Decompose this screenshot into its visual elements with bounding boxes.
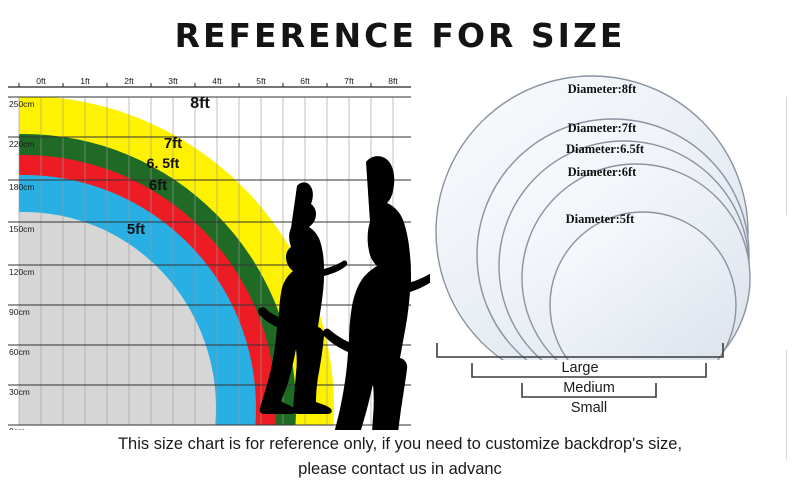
- bracket-label-large: Large: [561, 360, 598, 376]
- svg-text:1ft: 1ft: [80, 78, 90, 86]
- bracket-label-medium: Medium: [563, 380, 615, 396]
- page-title: REFERENCE FOR SIZE: [0, 16, 800, 55]
- arc-label-8ft: 8ft: [190, 95, 210, 112]
- disc-label-8ft: Diameter:8ft: [568, 82, 638, 96]
- svg-text:30cm: 30cm: [9, 387, 30, 397]
- svg-text:7ft: 7ft: [344, 78, 354, 86]
- footer-line-1: This size chart is for reference only, i…: [0, 432, 800, 457]
- svg-text:60cm: 60cm: [9, 347, 30, 357]
- svg-text:150cm: 150cm: [9, 224, 35, 234]
- adult-woman-silhouette: [323, 156, 430, 430]
- disc-label-7ft: Diameter:7ft: [568, 121, 638, 135]
- svg-text:5ft: 5ft: [256, 78, 266, 86]
- bracket-label-small: Small: [571, 400, 607, 416]
- svg-text:6ft: 6ft: [300, 78, 310, 86]
- svg-text:180cm: 180cm: [9, 182, 35, 192]
- x-axis-labels: 0ft 1ft 2ft 3ft 4ft 5ft 6ft 7ft 8ft: [36, 78, 398, 86]
- svg-text:250cm: 250cm: [9, 99, 35, 109]
- svg-text:2ft: 2ft: [124, 78, 134, 86]
- footer-line-2: please contact us in advanc: [0, 457, 800, 482]
- arc-label-7ft: 7ft: [164, 135, 182, 152]
- svg-text:90cm: 90cm: [9, 307, 30, 317]
- arc-label-5ft: 5ft: [127, 221, 145, 238]
- svg-text:120cm: 120cm: [9, 267, 35, 277]
- disc-label-6ft: Diameter:6ft: [568, 165, 638, 179]
- svg-text:0cm: 0cm: [9, 426, 25, 430]
- diameter-circles-chart: Diameter:8ft Diameter:7ft Diameter:6.5ft…: [430, 60, 800, 432]
- arc-label-65ft: 6. 5ft: [147, 155, 180, 171]
- svg-text:4ft: 4ft: [212, 78, 222, 86]
- svg-text:0ft: 0ft: [36, 78, 46, 86]
- svg-text:220cm: 220cm: [9, 139, 35, 149]
- svg-text:3ft: 3ft: [168, 78, 178, 86]
- arc-label-6ft: 6ft: [149, 177, 167, 194]
- footer-caption: This size chart is for reference only, i…: [0, 432, 800, 482]
- disc-label-5ft: Diameter:5ft: [566, 212, 636, 226]
- height-reference-chart: 8ft 7ft 6. 5ft 6ft 5ft 0ft 1ft 2ft 3ft 4…: [0, 78, 430, 430]
- svg-text:8ft: 8ft: [388, 78, 398, 86]
- disc-label-65ft: Diameter:6.5ft: [566, 142, 645, 156]
- edge-artifact-top: [786, 97, 787, 215]
